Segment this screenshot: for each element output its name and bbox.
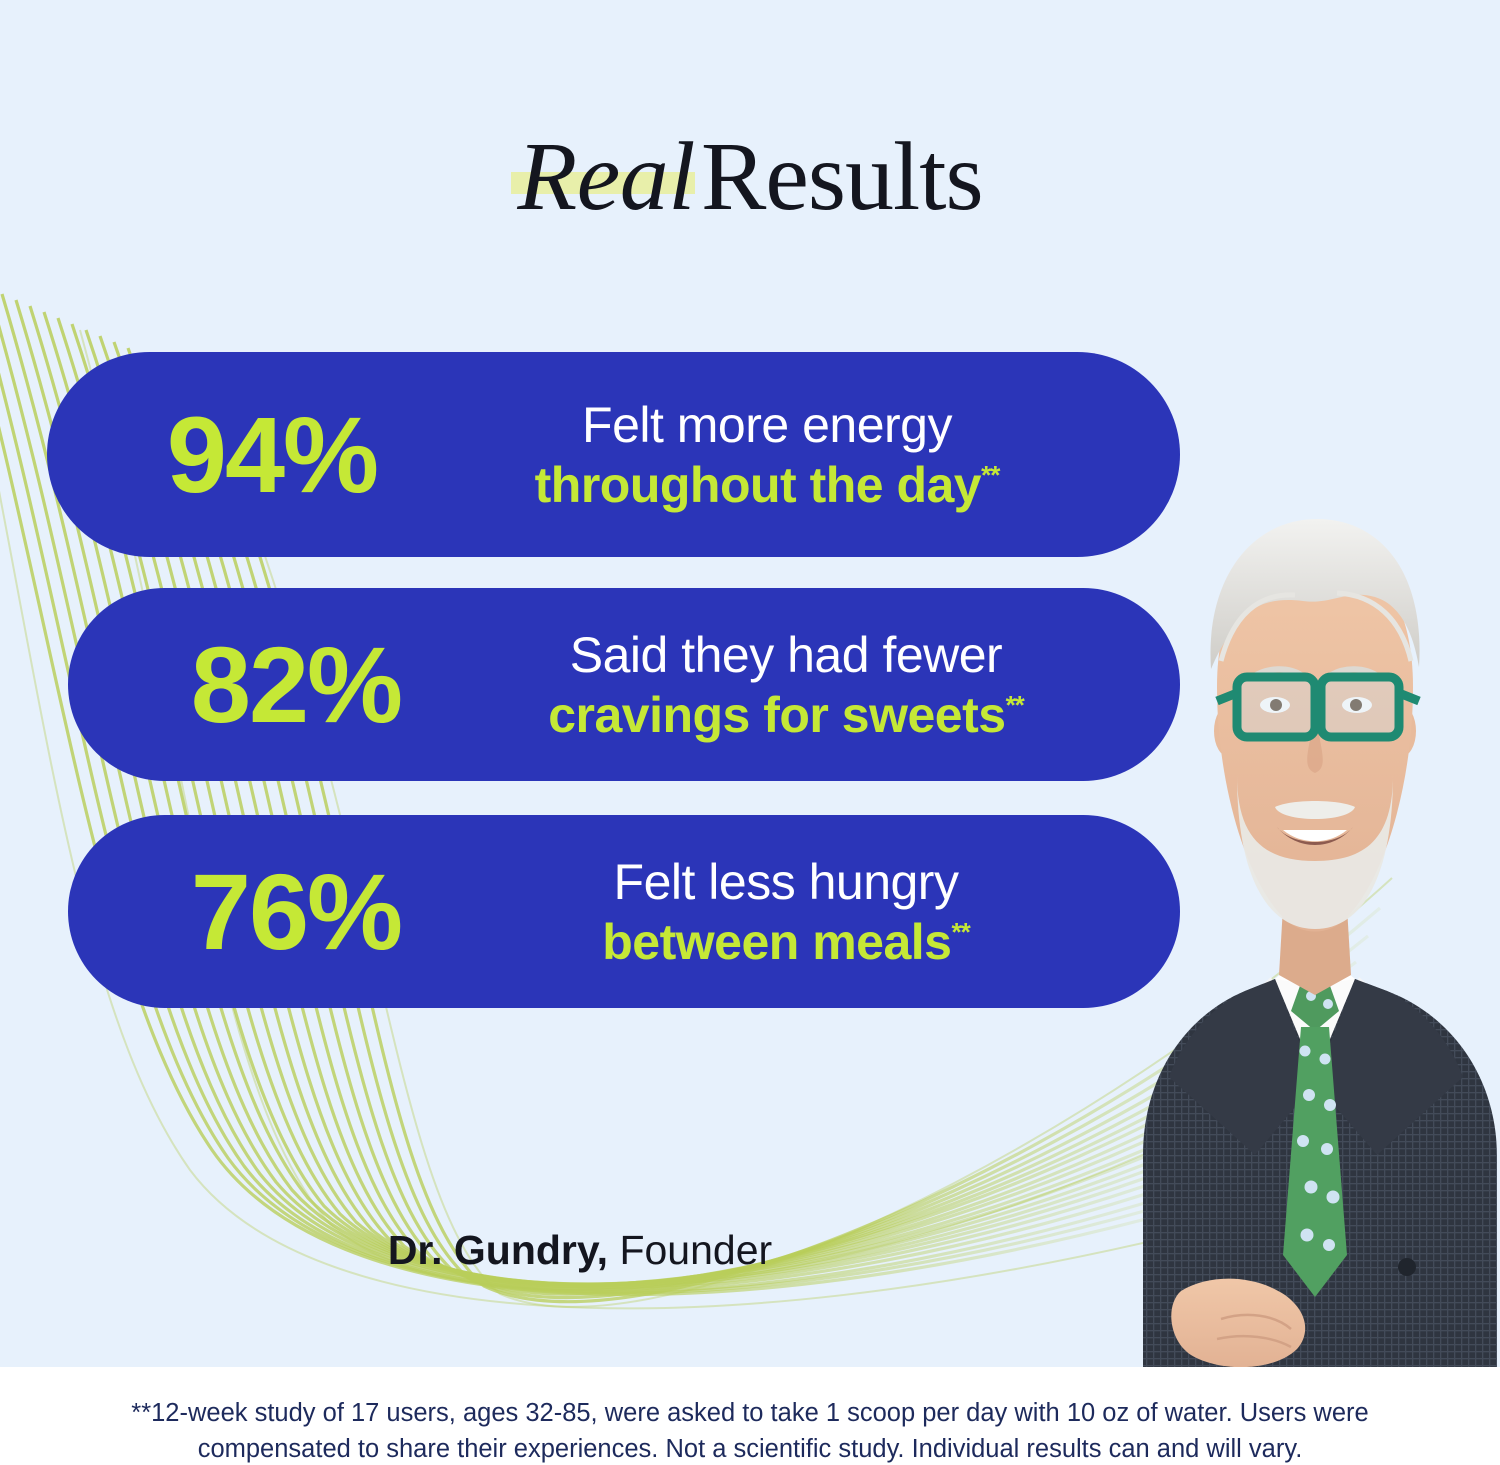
- stat-text: Felt less hungry between meals**: [506, 854, 1066, 970]
- page-title: RealResults: [0, 128, 1500, 226]
- footnote-marker: **: [981, 460, 999, 490]
- footnote-marker: **: [1006, 690, 1024, 720]
- founder-role: Founder: [608, 1227, 772, 1273]
- founder-name: Dr. Gundry,: [388, 1227, 608, 1273]
- stat-pill-cravings: 82% Said they had fewer cravings for swe…: [68, 588, 1180, 781]
- title-word-real: Real: [517, 128, 701, 226]
- stat-line-2: cravings for sweets**: [506, 687, 1066, 743]
- stat-percent: 76%: [86, 858, 506, 966]
- stat-line-2: throughout the day**: [487, 457, 1047, 513]
- stat-line-1: Felt less hungry: [506, 854, 1066, 910]
- stat-line-2-text: between meals: [602, 914, 951, 970]
- stat-line-2-text: throughout the day: [535, 457, 982, 513]
- founder-portrait: [1125, 455, 1500, 1370]
- infographic-root: RealResults 94% Felt more energy through…: [0, 0, 1500, 1465]
- stat-line-1: Said they had fewer: [506, 627, 1066, 683]
- stat-pill-hunger: 76% Felt less hungry between meals**: [68, 815, 1180, 1008]
- stat-text: Felt more energy throughout the day**: [487, 397, 1047, 513]
- footer-bar: **12-week study of 17 users, ages 32-85,…: [0, 1367, 1500, 1465]
- attribution-line: Dr. Gundry, Founder: [160, 1228, 1000, 1273]
- disclaimer-text: **12-week study of 17 users, ages 32-85,…: [60, 1395, 1440, 1465]
- stat-line-2-text: cravings for sweets: [548, 687, 1005, 743]
- stat-percent: 94%: [57, 401, 487, 509]
- stat-pill-energy: 94% Felt more energy throughout the day*…: [47, 352, 1180, 557]
- stat-line-1: Felt more energy: [487, 397, 1047, 453]
- eyeglasses: [1217, 677, 1419, 737]
- stat-line-2: between meals**: [506, 914, 1066, 970]
- footnote-marker: **: [951, 917, 969, 947]
- title-word-results: Results: [701, 123, 983, 231]
- stat-percent: 82%: [86, 631, 506, 739]
- stat-text: Said they had fewer cravings for sweets*…: [506, 627, 1066, 743]
- portrait-illustration: [1125, 455, 1500, 1370]
- jacket-button: [1398, 1258, 1416, 1276]
